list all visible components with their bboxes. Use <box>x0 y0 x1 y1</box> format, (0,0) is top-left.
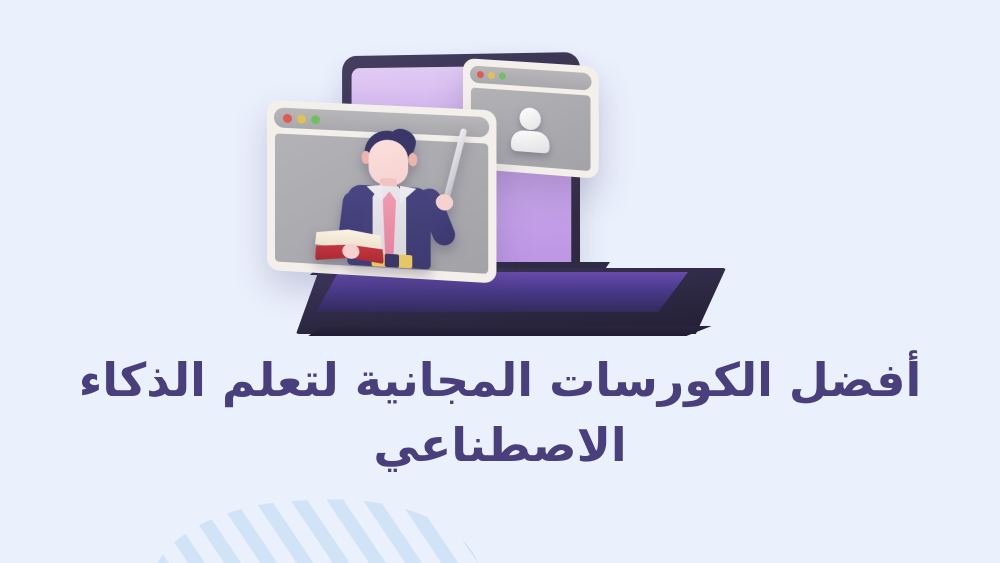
avatar-head <box>520 107 541 131</box>
teacher-ear-right <box>408 153 417 167</box>
diagonal-stripes-decoration <box>148 494 482 563</box>
page-title: أفضل الكورسات المجانية لتعلم الذكاء الاص… <box>0 348 1000 479</box>
minimize-icon[interactable] <box>297 114 306 123</box>
user-avatar-icon <box>507 107 554 155</box>
teacher-browser-window[interactable] <box>267 100 496 283</box>
teacher-left-hand <box>342 243 359 259</box>
teacher-right-hand <box>436 194 453 211</box>
window-content <box>275 133 488 273</box>
maximize-icon[interactable] <box>311 115 320 124</box>
banner-canvas: أفضل الكورسات المجانية لتعلم الذكاء الاص… <box>0 0 1000 563</box>
laptop-front-edge <box>300 326 720 336</box>
avatar-body <box>511 130 549 154</box>
maximize-icon[interactable] <box>499 72 506 80</box>
teacher-belt-buckle <box>385 254 399 268</box>
window-title-bar <box>470 65 592 90</box>
online-learning-illustration <box>0 0 1000 360</box>
close-icon[interactable] <box>477 71 484 78</box>
close-icon[interactable] <box>283 113 292 122</box>
teacher-character <box>311 125 463 274</box>
laptop-keyboard <box>316 272 688 312</box>
minimize-icon[interactable] <box>488 72 495 79</box>
